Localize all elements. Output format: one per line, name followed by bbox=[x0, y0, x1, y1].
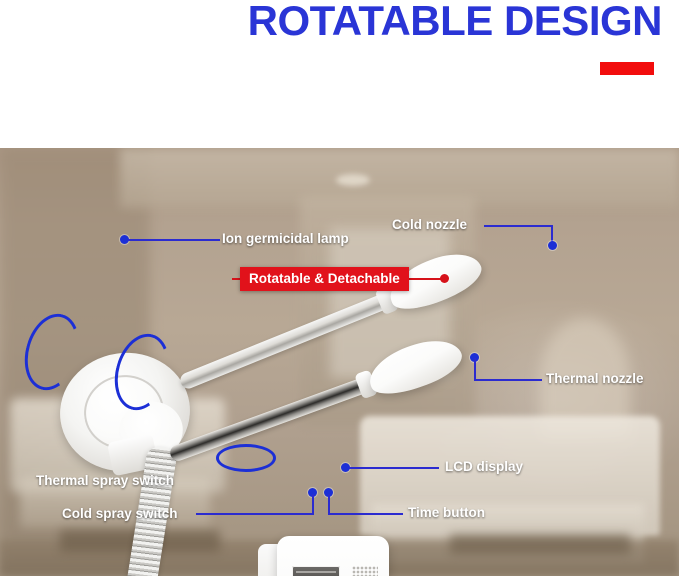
accent-bar bbox=[600, 62, 654, 75]
upper-window bbox=[292, 566, 340, 576]
callout-lcd-display: LCD display bbox=[445, 459, 523, 474]
leader-lcd-display bbox=[349, 467, 439, 469]
page-title: ROTATABLE DESIGN bbox=[0, 0, 662, 44]
leader-ion-germicidal-lamp bbox=[128, 239, 220, 241]
callout-time-button: Time button bbox=[408, 505, 485, 520]
leader-cold-spray-switch bbox=[196, 513, 312, 515]
callout-ion-germicidal-lamp: Ion germicidal lamp bbox=[222, 231, 349, 246]
speaker-grille-icon bbox=[352, 566, 378, 576]
leader-thermal-nozzle-h bbox=[474, 379, 542, 381]
leader-cold-spray-switch-v bbox=[312, 494, 314, 515]
callout-thermal-spray-switch: Thermal spray switch bbox=[36, 473, 174, 488]
product-photo: Ion germicidal lamp Cold nozzle Thermal … bbox=[0, 148, 679, 576]
infographic-page: ROTATABLE DESIGN bbox=[0, 0, 679, 576]
leader-time-button-v bbox=[328, 494, 330, 515]
ceiling-light bbox=[336, 174, 370, 186]
leader-thermal-nozzle-v bbox=[474, 358, 476, 381]
leader-time-button-h bbox=[328, 513, 403, 515]
floor-shadow-right bbox=[450, 534, 630, 554]
rotation-arrow-gooseneck bbox=[216, 444, 276, 472]
badge-rotatable-detachable: Rotatable & Detachable bbox=[240, 267, 409, 291]
leader-cold-nozzle-h bbox=[484, 225, 553, 227]
callout-cold-spray-switch: Cold spray switch bbox=[62, 506, 178, 521]
callout-thermal-nozzle: Thermal nozzle bbox=[546, 371, 644, 386]
marker-cold-nozzle bbox=[548, 241, 557, 250]
callout-cold-nozzle: Cold nozzle bbox=[392, 217, 467, 232]
